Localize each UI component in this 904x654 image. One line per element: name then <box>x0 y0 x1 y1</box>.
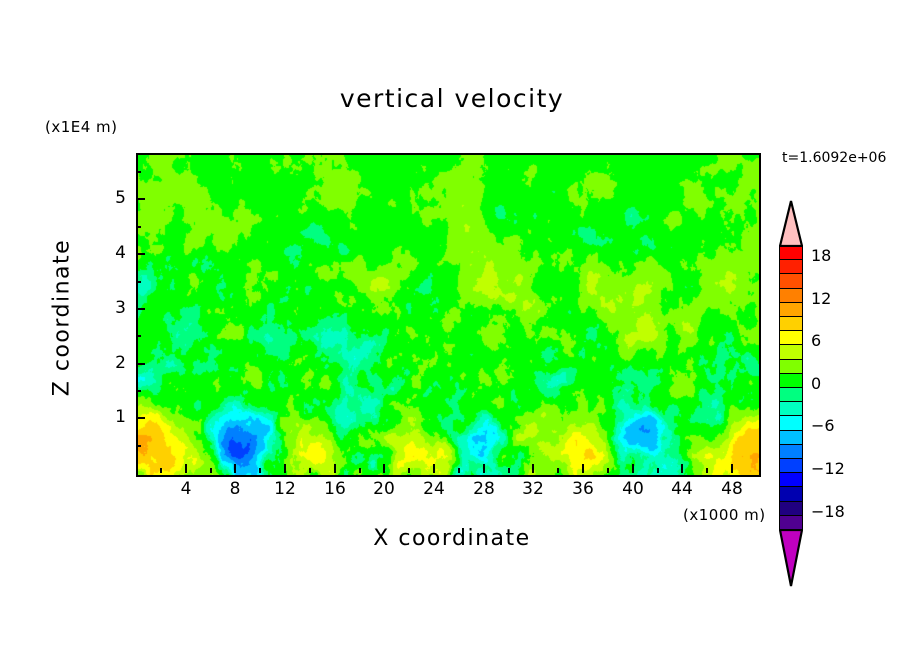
x-tick-label: 24 <box>414 479 454 499</box>
x-tick-major <box>681 464 683 473</box>
x-tick-minor <box>160 468 162 473</box>
y-tick-major <box>136 417 145 419</box>
x-tick-minor <box>408 468 410 473</box>
y-tick-label: 5 <box>100 188 126 208</box>
colorbar-tick-label: 12 <box>811 289 831 308</box>
x-tick-major <box>532 464 534 473</box>
page-title: vertical velocity <box>0 84 904 113</box>
contour-plot-figure: vertical velocity (x1E4 m) (x1000 m) X c… <box>0 0 904 654</box>
x-tick-major <box>284 464 286 473</box>
colorbar-tick-label: 6 <box>811 331 821 350</box>
x-tick-major <box>483 464 485 473</box>
y-tick-minor <box>136 281 141 283</box>
y-tick-label: 3 <box>100 298 126 318</box>
plot-area <box>136 153 761 477</box>
x-tick-label: 28 <box>464 479 504 499</box>
x-tick-label: 32 <box>513 479 553 499</box>
x-tick-major <box>185 464 187 473</box>
colorbar-tick-label: −6 <box>811 416 835 435</box>
x-tick-minor <box>508 468 510 473</box>
y-tick-minor <box>136 335 141 337</box>
colorbar: 181260−6−12−18 <box>779 200 805 520</box>
y-tick-major <box>136 363 145 365</box>
x-tick-minor <box>657 468 659 473</box>
x-tick-major <box>582 464 584 473</box>
y-tick-label: 4 <box>100 243 126 263</box>
colorbar-tick-label: −12 <box>811 459 845 478</box>
x-tick-label: 48 <box>712 479 752 499</box>
y-tick-major <box>136 198 145 200</box>
x-tick-label: 8 <box>215 479 255 499</box>
colorbar-tick-label: 18 <box>811 246 831 265</box>
colorbar-over-triangle <box>779 200 803 247</box>
y-axis-unit-label: (x1E4 m) <box>45 118 118 136</box>
x-tick-minor <box>458 468 460 473</box>
y-tick-minor <box>136 226 141 228</box>
x-tick-minor <box>309 468 311 473</box>
colorbar-under-triangle <box>779 529 803 587</box>
x-tick-minor <box>259 468 261 473</box>
x-tick-minor <box>210 468 212 473</box>
y-tick-minor <box>136 171 141 173</box>
x-tick-label: 40 <box>613 479 653 499</box>
timestamp-annotation: t=1.6092e+06 <box>782 150 886 166</box>
y-tick-label: 2 <box>100 353 126 373</box>
x-axis-title: X coordinate <box>0 526 904 551</box>
x-tick-major <box>731 464 733 473</box>
contour-field-canvas <box>138 155 759 475</box>
x-tick-label: 44 <box>662 479 702 499</box>
x-tick-label: 4 <box>166 479 206 499</box>
x-tick-label: 36 <box>563 479 603 499</box>
colorbar-tick-label: 0 <box>811 374 821 393</box>
x-tick-major <box>334 464 336 473</box>
y-tick-label: 1 <box>100 407 126 427</box>
x-tick-minor <box>557 468 559 473</box>
x-tick-minor <box>359 468 361 473</box>
colorbar-tick-label: −18 <box>811 502 845 521</box>
y-axis-title: Z coordinate <box>50 208 75 428</box>
y-tick-major <box>136 308 145 310</box>
y-tick-major <box>136 253 145 255</box>
x-tick-major <box>632 464 634 473</box>
x-tick-minor <box>706 468 708 473</box>
x-tick-major <box>433 464 435 473</box>
y-tick-minor <box>136 390 141 392</box>
x-tick-label: 16 <box>315 479 355 499</box>
x-tick-label: 20 <box>364 479 404 499</box>
x-tick-major <box>234 464 236 473</box>
x-axis-unit-label: (x1000 m) <box>683 506 766 524</box>
y-tick-minor <box>136 445 141 447</box>
x-tick-label: 12 <box>265 479 305 499</box>
x-tick-minor <box>607 468 609 473</box>
x-tick-major <box>383 464 385 473</box>
